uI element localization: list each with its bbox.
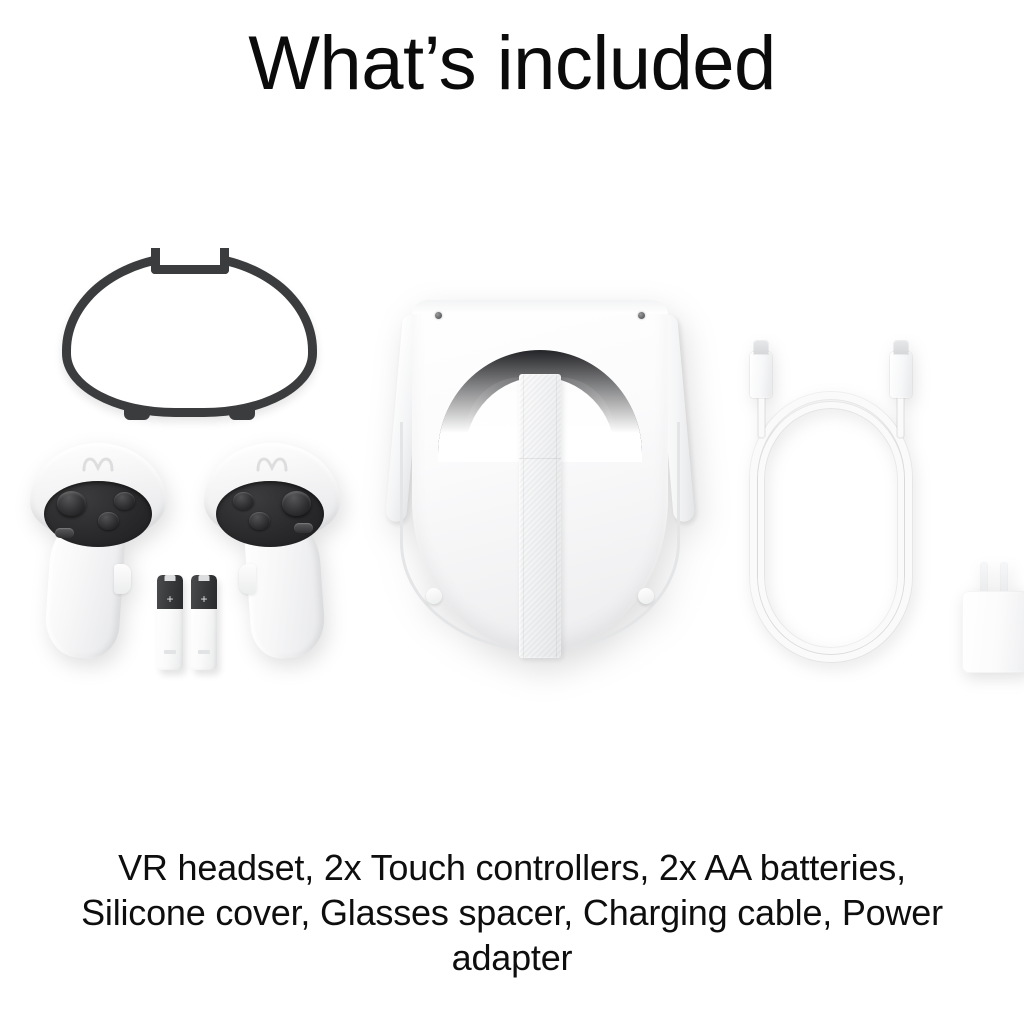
glasses-spacer-bump-left: [124, 407, 150, 420]
touch-controller-left: [22, 443, 174, 658]
glasses-spacer-ring: [62, 252, 317, 417]
controller-button-face: [216, 481, 324, 547]
charging-cable: [736, 340, 926, 670]
controller-button-face: [44, 481, 152, 547]
cable-loop-inner: [758, 402, 904, 654]
controller-button-y: [114, 492, 135, 510]
battery-plus-mark: +: [166, 593, 173, 605]
product-image-stage: + +: [0, 230, 1024, 750]
contents-caption: VR headset, 2x Touch controllers, 2x AA …: [60, 845, 964, 980]
controller-thumbstick: [282, 491, 311, 516]
controller-trigger: [239, 564, 256, 594]
battery-label: [198, 650, 210, 654]
headset-strap-slider-left: [426, 588, 442, 604]
vr-headset: [390, 272, 690, 662]
glasses-spacer-bump-right: [229, 407, 255, 420]
glasses-spacer-icon: [62, 252, 317, 417]
aa-batteries: + +: [157, 575, 223, 670]
meta-logo-icon: [81, 455, 115, 475]
usb-c-connector-right: [890, 352, 912, 398]
battery-label: [164, 650, 176, 654]
product-contents-page: What’s included: [0, 0, 1024, 1024]
battery-plus-mark: +: [200, 593, 207, 605]
headset-strap-slider-right: [638, 588, 654, 604]
glasses-spacer-notch: [151, 248, 229, 274]
controller-menu-button: [55, 528, 74, 538]
controller-thumbstick: [57, 491, 86, 516]
controller-button-b: [233, 492, 254, 510]
controller-button-x: [98, 512, 119, 530]
connector-tip: [754, 341, 768, 354]
headset-camera-left: [435, 312, 442, 319]
headset-top-strap: [519, 374, 561, 658]
battery-nub: [165, 575, 176, 581]
headset-camera-right: [638, 312, 645, 319]
controller-button-a: [249, 512, 270, 530]
usb-c-connector-left: [750, 352, 772, 398]
controller-trigger: [114, 564, 131, 594]
aa-battery-1: +: [157, 575, 183, 670]
headset-top-edge: [412, 300, 668, 314]
headset-top-strap-seam: [519, 458, 561, 459]
meta-logo-icon: [255, 455, 289, 475]
power-adapter: [962, 563, 1024, 673]
aa-battery-2: +: [191, 575, 217, 670]
page-title: What’s included: [0, 18, 1024, 110]
battery-nub: [199, 575, 210, 581]
adapter-body: [962, 591, 1024, 673]
controller-menu-button: [294, 523, 313, 533]
connector-tip: [894, 341, 908, 354]
